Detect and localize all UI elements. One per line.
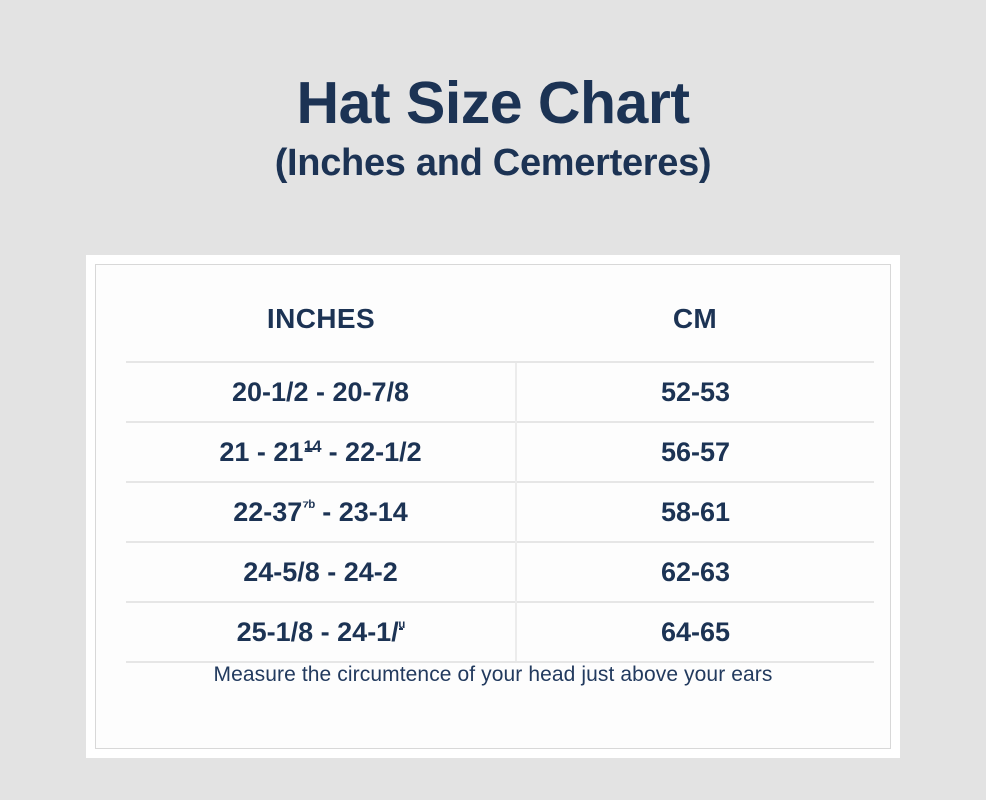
- title-block: Hat Size Chart (Inches and Cemerteres): [0, 72, 986, 184]
- page-title: Hat Size Chart: [0, 72, 986, 135]
- cell-inches: 20-1/2 - 20-7/8: [126, 362, 516, 422]
- inches-value-tail: - 23-14: [315, 497, 408, 527]
- inches-value: 22-37: [233, 497, 302, 527]
- column-header-cm: CM: [516, 303, 874, 362]
- inches-value: 24-5/8 - 24-2: [243, 557, 398, 587]
- inches-value: 25-1/8 - 24-1/: [237, 617, 399, 647]
- size-chart-card: INCHES CM 20-1/2 - 20-7/8 52-53 21 - 211…: [86, 255, 900, 758]
- cell-cm: 56-57: [516, 422, 874, 482]
- cell-inches: 24-5/8 - 24-2: [126, 542, 516, 602]
- cell-cm: 52-53: [516, 362, 874, 422]
- table-row: 20-1/2 - 20-7/8 52-53: [126, 362, 874, 422]
- inches-value: 21 - 21: [219, 437, 303, 467]
- table-row: 22-37⁷ᵇ - 23-14 58-61: [126, 482, 874, 542]
- size-table-head: INCHES CM: [126, 303, 874, 362]
- cell-inches: 25-1/8 - 24-1/ᵘ: [126, 602, 516, 662]
- inches-value: 20-1/2 - 20-7/8: [232, 377, 409, 407]
- cell-cm: 62-63: [516, 542, 874, 602]
- table-row: 21 - 2114 - 22-1/2 56-57: [126, 422, 874, 482]
- size-table: INCHES CM 20-1/2 - 20-7/8 52-53 21 - 211…: [126, 303, 874, 663]
- measurement-instruction: Measure the circumtence of your head jus…: [96, 663, 890, 687]
- table-header-row: INCHES CM: [126, 303, 874, 362]
- table-row: 25-1/8 - 24-1/ᵘ 64-65: [126, 602, 874, 662]
- size-table-body: 20-1/2 - 20-7/8 52-53 21 - 2114 - 22-1/2…: [126, 362, 874, 662]
- cell-cm: 58-61: [516, 482, 874, 542]
- table-row: 24-5/8 - 24-2 62-63: [126, 542, 874, 602]
- size-chart-card-inner: INCHES CM 20-1/2 - 20-7/8 52-53 21 - 211…: [95, 264, 891, 749]
- page-subtitle: (Inches and Cemerteres): [0, 143, 986, 185]
- inches-value-tail: - 22-1/2: [321, 437, 422, 467]
- hat-size-chart-page: Hat Size Chart (Inches and Cemerteres) I…: [0, 0, 986, 800]
- cell-cm: 64-65: [516, 602, 874, 662]
- column-header-inches: INCHES: [126, 303, 516, 362]
- cell-inches: 22-37⁷ᵇ - 23-14: [126, 482, 516, 542]
- cell-inches: 21 - 2114 - 22-1/2: [126, 422, 516, 482]
